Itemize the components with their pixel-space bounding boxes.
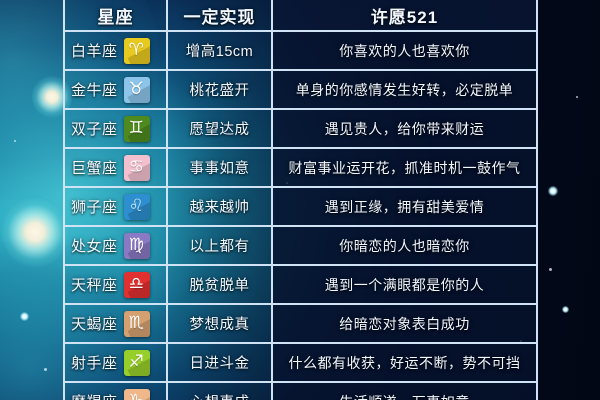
cell-sign: 摩羯座♑ bbox=[63, 383, 168, 400]
sign-name-label: 天蝎座 bbox=[71, 313, 118, 334]
cell-sign: 射手座♐ bbox=[63, 344, 168, 381]
zodiac-glyph: ♏ bbox=[129, 315, 145, 332]
cell-sign: 巨蟹座♋ bbox=[63, 149, 168, 186]
wish-detail-label: 生活顺遂，万事如意 bbox=[339, 392, 470, 400]
cell-text: 遇见贵人，给你带来财运 bbox=[273, 110, 538, 147]
libra-icon: ♎ bbox=[124, 272, 150, 298]
sign-name-label: 摩羯座 bbox=[71, 391, 118, 400]
cell-wish: 愿望达成 bbox=[168, 110, 273, 147]
wish-label: 越来越帅 bbox=[190, 196, 250, 217]
leo-icon: ♌ bbox=[124, 194, 150, 220]
table-row: 天秤座♎脱贫脱单遇到一个满眼都是你的人 bbox=[63, 266, 538, 305]
wish-label: 脱贫脱单 bbox=[190, 274, 250, 295]
cell-wish: 越来越帅 bbox=[168, 188, 273, 225]
cell-wish: 脱贫脱单 bbox=[168, 266, 273, 303]
header-cell-wish: 一定实现 bbox=[168, 0, 273, 30]
sign-name-label: 狮子座 bbox=[71, 196, 118, 217]
header-label-wish: 一定实现 bbox=[184, 3, 256, 28]
cell-wish: 桃花盛开 bbox=[168, 71, 273, 108]
zodiac-glyph: ♉ bbox=[129, 81, 145, 98]
cell-wish: 日进斗金 bbox=[168, 344, 273, 381]
wish-detail-label: 遇到一个满眼都是你的人 bbox=[325, 275, 485, 295]
cell-text: 遇到一个满眼都是你的人 bbox=[273, 266, 538, 303]
zodiac-table: 星座 一定实现 许愿521 白羊座♈增高15cm你喜欢的人也喜欢你金牛座♉桃花盛… bbox=[63, 0, 538, 400]
cell-sign: 金牛座♉ bbox=[63, 71, 168, 108]
sign-name-label: 射手座 bbox=[71, 352, 118, 373]
cell-sign: 天秤座♎ bbox=[63, 266, 168, 303]
sign-name-label: 处女座 bbox=[71, 235, 118, 256]
wish-label: 以上都有 bbox=[190, 235, 250, 256]
wish-label: 桃花盛开 bbox=[190, 79, 250, 100]
table-row: 处女座♍以上都有你暗恋的人也暗恋你 bbox=[63, 227, 538, 266]
sign-name-label: 天秤座 bbox=[71, 274, 118, 295]
wish-detail-label: 财富事业运开花，抓准时机一鼓作气 bbox=[289, 158, 521, 178]
zodiac-glyph: ♊ bbox=[129, 120, 145, 137]
scorpio-icon: ♏ bbox=[124, 311, 150, 337]
table-row: 天蝎座♏梦想成真给暗恋对象表白成功 bbox=[63, 305, 538, 344]
table-row: 双子座♊愿望达成遇见贵人，给你带来财运 bbox=[63, 110, 538, 149]
cancer-icon: ♋ bbox=[124, 155, 150, 181]
cell-sign: 白羊座♈ bbox=[63, 32, 168, 69]
header-cell-text: 许愿521 bbox=[273, 0, 538, 30]
wish-detail-label: 什么都有收获，好运不断，势不可挡 bbox=[289, 353, 521, 373]
sign-name-label: 巨蟹座 bbox=[71, 157, 118, 178]
wish-label: 增高15cm bbox=[186, 40, 253, 61]
cell-sign: 狮子座♌ bbox=[63, 188, 168, 225]
cell-wish: 以上都有 bbox=[168, 227, 273, 264]
sign-name-label: 双子座 bbox=[71, 118, 118, 139]
aries-icon: ♈ bbox=[124, 38, 150, 64]
table-row: 射手座♐日进斗金什么都有收获，好运不断，势不可挡 bbox=[63, 344, 538, 383]
header-label-text: 许愿521 bbox=[371, 3, 438, 28]
cell-sign: 天蝎座♏ bbox=[63, 305, 168, 342]
zodiac-glyph: ♐ bbox=[129, 354, 145, 371]
zodiac-glyph: ♌ bbox=[129, 198, 145, 215]
zodiac-wish-poster: 星座 一定实现 许愿521 白羊座♈增高15cm你喜欢的人也喜欢你金牛座♉桃花盛… bbox=[0, 0, 600, 400]
header-label-sign: 星座 bbox=[98, 3, 134, 28]
cell-text: 你喜欢的人也喜欢你 bbox=[273, 32, 538, 69]
zodiac-glyph: ♋ bbox=[129, 159, 145, 176]
cell-sign: 处女座♍ bbox=[63, 227, 168, 264]
wish-label: 愿望达成 bbox=[190, 118, 250, 139]
virgo-icon: ♍ bbox=[124, 233, 150, 259]
cell-text: 遇到正缘，拥有甜美爱情 bbox=[273, 188, 538, 225]
zodiac-glyph: ♈ bbox=[129, 42, 145, 59]
header-cell-sign: 星座 bbox=[63, 0, 168, 30]
wish-detail-label: 单身的你感情发生好转，必定脱单 bbox=[296, 80, 514, 100]
table-row: 巨蟹座♋事事如意财富事业运开花，抓准时机一鼓作气 bbox=[63, 149, 538, 188]
wish-detail-label: 你暗恋的人也暗恋你 bbox=[339, 236, 470, 256]
table-header-row: 星座 一定实现 许愿521 bbox=[63, 0, 538, 32]
wish-label: 梦想成真 bbox=[190, 313, 250, 334]
cell-wish: 心想事成 bbox=[168, 383, 273, 400]
zodiac-glyph: ♎ bbox=[129, 276, 145, 293]
table-row: 金牛座♉桃花盛开单身的你感情发生好转，必定脱单 bbox=[63, 71, 538, 110]
sagittarius-icon: ♐ bbox=[124, 350, 150, 376]
cell-wish: 梦想成真 bbox=[168, 305, 273, 342]
table-row: 摩羯座♑心想事成生活顺遂，万事如意 bbox=[63, 383, 538, 400]
wish-label: 事事如意 bbox=[190, 157, 250, 178]
cell-text: 单身的你感情发生好转，必定脱单 bbox=[273, 71, 538, 108]
wish-detail-label: 你喜欢的人也喜欢你 bbox=[339, 41, 470, 61]
wish-label: 心想事成 bbox=[190, 391, 250, 400]
cell-text: 什么都有收获，好运不断，势不可挡 bbox=[273, 344, 538, 381]
cell-wish: 事事如意 bbox=[168, 149, 273, 186]
wish-detail-label: 遇见贵人，给你带来财运 bbox=[325, 119, 485, 139]
zodiac-glyph: ♍ bbox=[129, 237, 145, 254]
wish-detail-label: 遇到正缘，拥有甜美爱情 bbox=[325, 197, 485, 217]
capricorn-icon: ♑ bbox=[124, 389, 150, 400]
wish-detail-label: 给暗恋对象表白成功 bbox=[339, 314, 470, 334]
cell-sign: 双子座♊ bbox=[63, 110, 168, 147]
sign-name-label: 白羊座 bbox=[71, 40, 118, 61]
cell-text: 生活顺遂，万事如意 bbox=[273, 383, 538, 400]
cell-wish: 增高15cm bbox=[168, 32, 273, 69]
taurus-icon: ♉ bbox=[124, 77, 150, 103]
table-row: 狮子座♌越来越帅遇到正缘，拥有甜美爱情 bbox=[63, 188, 538, 227]
cell-text: 财富事业运开花，抓准时机一鼓作气 bbox=[273, 149, 538, 186]
cell-text: 给暗恋对象表白成功 bbox=[273, 305, 538, 342]
table-row: 白羊座♈增高15cm你喜欢的人也喜欢你 bbox=[63, 32, 538, 71]
zodiac-glyph: ♑ bbox=[129, 393, 145, 400]
cell-text: 你暗恋的人也暗恋你 bbox=[273, 227, 538, 264]
gemini-icon: ♊ bbox=[124, 116, 150, 142]
wish-label: 日进斗金 bbox=[190, 352, 250, 373]
sign-name-label: 金牛座 bbox=[71, 79, 118, 100]
